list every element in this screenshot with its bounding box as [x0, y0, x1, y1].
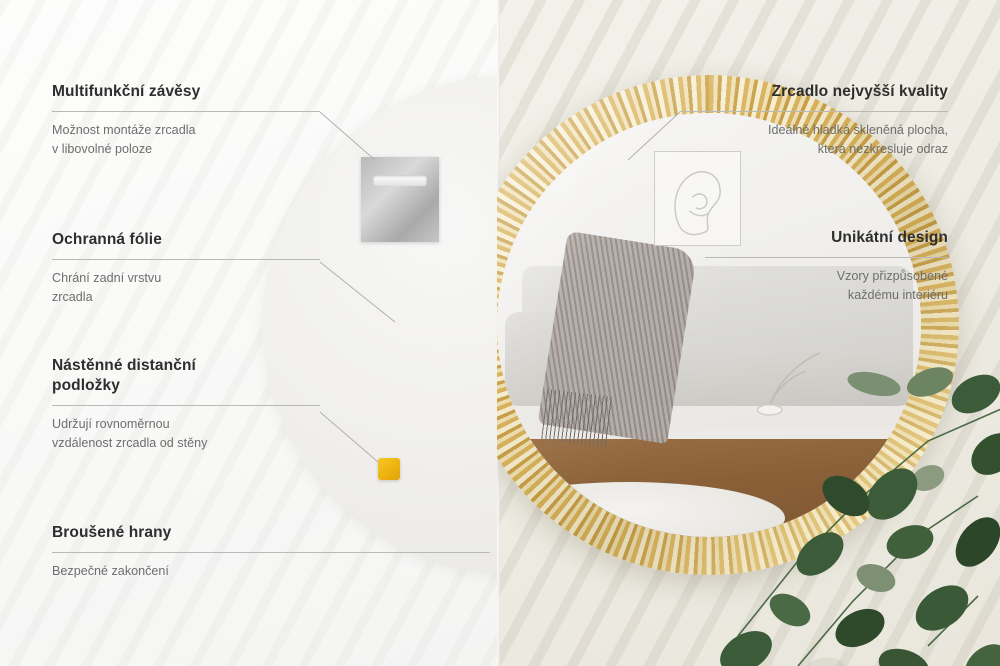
feature-rule — [680, 111, 948, 112]
feature-title: Multifunkční závěsy — [52, 82, 320, 102]
hanger-bracket-icon — [361, 157, 439, 242]
hanger-slot — [373, 175, 427, 186]
feature-title: Broušené hrany — [52, 523, 490, 543]
feature-title: Ochranná fólie — [52, 230, 320, 250]
feature-title: Unikátní design — [705, 228, 948, 248]
feature-desc: Chrání zadní vrstvu zrcadla — [52, 269, 320, 307]
feature-rule — [52, 552, 490, 553]
feature-zrcadlo-nejvyssi-kvality: Zrcadlo nejvyšší kvality Ideálně hladká … — [680, 82, 948, 159]
feature-rule — [52, 259, 320, 260]
feature-desc: Udržují rovnoměrnou vzdálenost zrcadla o… — [52, 415, 320, 453]
feature-distancni-podlozky: Nástěnné distanční podložky Udržují rovn… — [52, 356, 320, 454]
feature-brousene-hrany: Broušené hrany Bezpečné zakončení — [52, 523, 490, 581]
product-infographic: Multifunkční závěsy Možnost montáže zrca… — [0, 0, 1000, 666]
feature-desc: Možnost montáže zrcadla v libovolné polo… — [52, 121, 320, 159]
spacer-pad-icon — [378, 458, 400, 480]
feature-desc: Ideálně hladká skleněná plocha, která ne… — [680, 121, 948, 159]
feature-desc: Bezpečné zakončení — [52, 562, 490, 581]
feature-ochranna-folie: Ochranná fólie Chrání zadní vrstvu zrcad… — [52, 230, 320, 307]
feature-title: Nástěnné distanční podložky — [52, 356, 262, 396]
feature-rule — [52, 405, 320, 406]
eucalyptus-branches — [678, 346, 1000, 666]
feature-title: Zrcadlo nejvyšší kvality — [680, 82, 948, 102]
feature-rule — [52, 111, 320, 112]
feature-desc: Vzory přizpůsobené každému interiéru — [705, 267, 948, 305]
feature-unikatni-design: Unikátní design Vzory přizpůsobené každé… — [705, 228, 948, 305]
feature-multifunkcni-zavesy: Multifunkční závěsy Možnost montáže zrca… — [52, 82, 320, 159]
feature-rule — [705, 257, 948, 258]
